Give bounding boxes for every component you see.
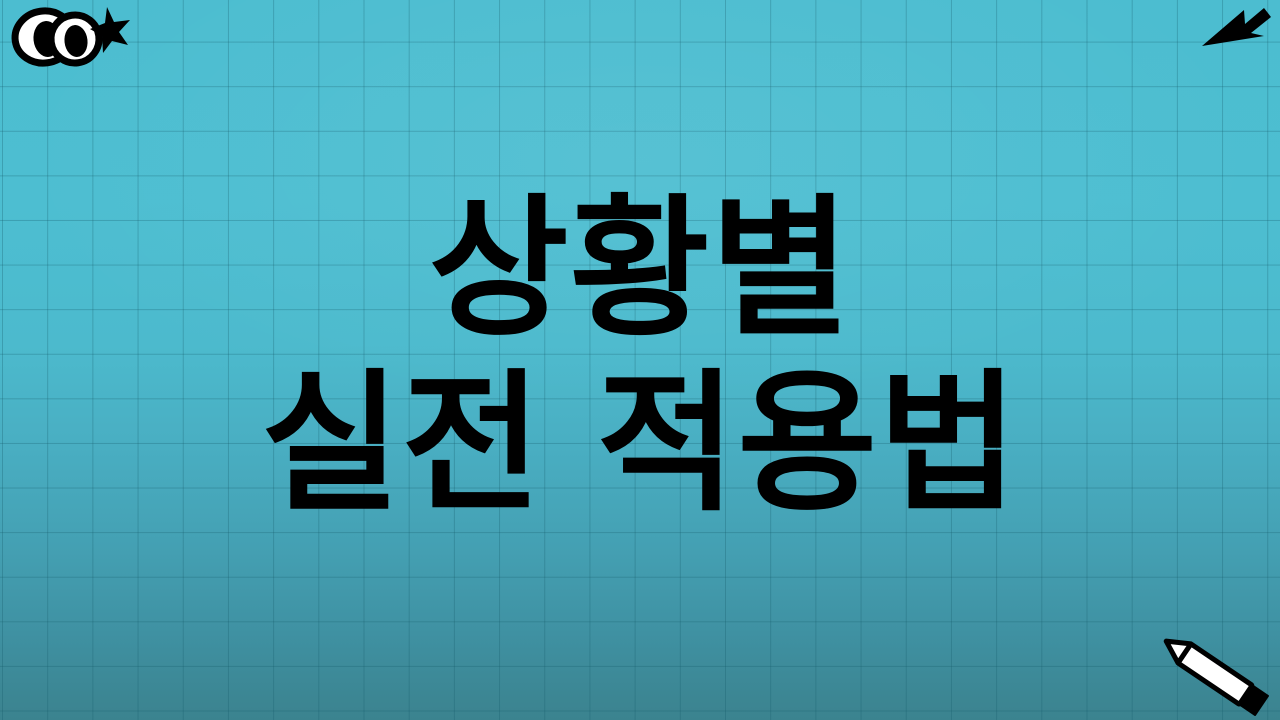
page-title: 상황별 실전 적용법 <box>0 181 1280 531</box>
graph-paper-grid <box>0 0 1280 720</box>
pencil-mark <box>1152 632 1276 716</box>
title-line-1: 상황별 <box>0 181 1280 356</box>
slide-canvas: 상황별 실전 적용법 <box>0 0 1280 720</box>
cartoon-eyes-star-logo <box>6 0 140 72</box>
right-eye-icon <box>48 12 102 66</box>
title-line-2: 실전 적용법 <box>0 356 1280 531</box>
arrow-cursor-mark <box>1198 2 1274 54</box>
background-bloom <box>0 0 1280 720</box>
